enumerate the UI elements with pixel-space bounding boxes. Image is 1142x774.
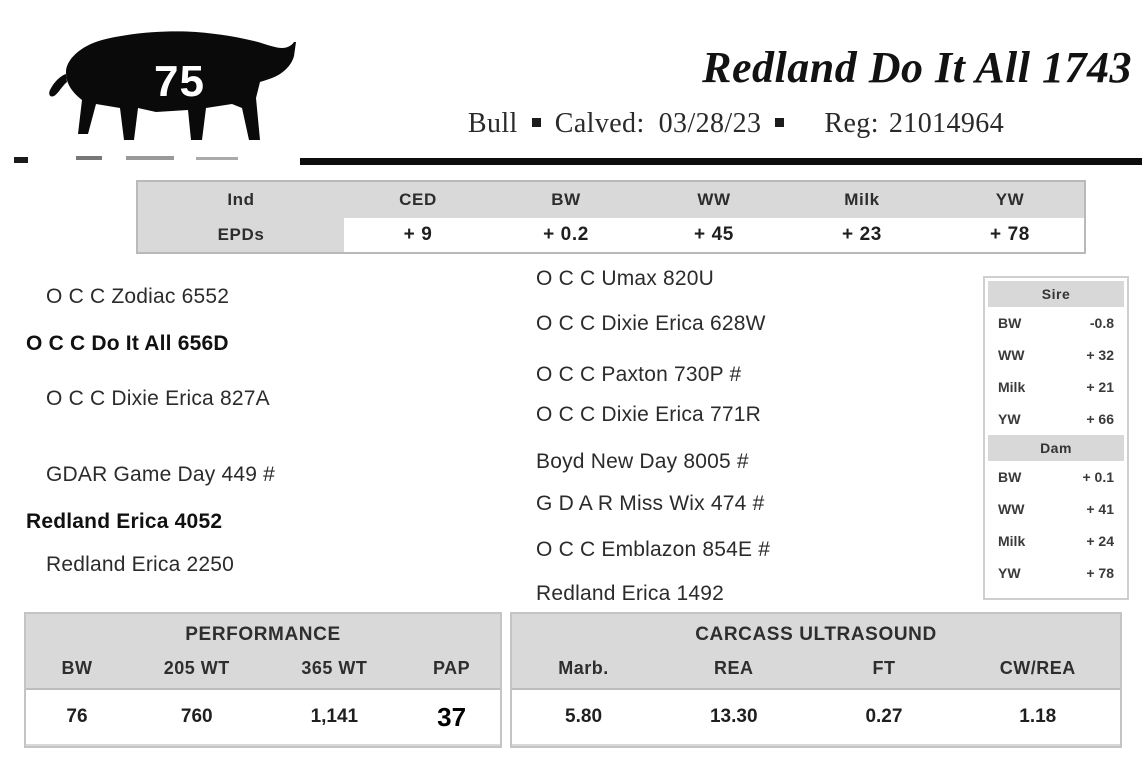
dam-milk-value: + 24	[1050, 533, 1124, 549]
pedigree-sire-grandsire: O C C Zodiac 6552	[46, 285, 229, 309]
dam-ww-key: WW	[988, 501, 1050, 517]
sire-bw-value: -0.8	[1050, 315, 1124, 331]
epd-col-milk: Milk	[788, 182, 936, 218]
dam-ww-value: + 41	[1050, 501, 1124, 517]
carcass-col-cwrea: CW/REA	[955, 648, 1120, 688]
performance-col-bw: BW	[26, 648, 128, 688]
carcass-value-row: 5.80 13.30 0.27 1.18	[512, 688, 1120, 744]
performance-value-row: 76 760 1,141 37	[26, 688, 500, 744]
separator-dot-icon-2	[775, 118, 784, 127]
dam-row-bw: BW + 0.1	[988, 461, 1124, 493]
lot-photo: 75	[36, 12, 298, 164]
carcass-header-row: Marb. REA FT CW/REA	[512, 648, 1120, 688]
sire-milk-value: + 21	[1050, 379, 1124, 395]
performance-value-bw: 76	[26, 690, 128, 744]
dam-yw-value: + 78	[1050, 565, 1124, 581]
reg-label: Reg:	[824, 108, 878, 140]
performance-col-pap: PAP	[403, 648, 500, 688]
dam-row-milk: Milk + 24	[988, 525, 1124, 557]
performance-value-pap: 37	[403, 690, 500, 744]
epd-col-bw: BW	[492, 182, 640, 218]
page-title: Redland Do It All 1743	[540, 42, 1132, 93]
reg-number: 21014964	[889, 108, 1004, 140]
sire-dam-epd-box: Sire BW -0.8 WW + 32 Milk + 21 YW + 66 D…	[983, 276, 1129, 600]
epd-value-row: EPDs + 9 + 0.2 + 45 + 23 + 78	[138, 218, 1084, 252]
sire-ww-value: + 32	[1050, 347, 1124, 363]
carcass-value-ft: 0.27	[812, 690, 955, 744]
pedigree-dam-grandsire: GDAR Game Day 449 #	[46, 463, 275, 487]
calved-label: Calved:	[555, 108, 645, 140]
epd-col-ind: Ind	[138, 182, 344, 218]
header-divider	[300, 158, 1142, 165]
sire-yw-value: + 66	[1050, 411, 1124, 427]
pedigree-great-4: O C C Dixie Erica 771R	[536, 403, 761, 427]
calved-date: 03/28/23	[659, 108, 762, 140]
pedigree-great-7: O C C Emblazon 854E #	[536, 538, 770, 562]
epd-value-milk: + 23	[788, 218, 936, 252]
pedigree-dam-granddam: Redland Erica 2250	[46, 553, 234, 577]
animal-subtitle: Bull Calved: 03/28/23 Reg: 21014964	[340, 108, 1132, 140]
dam-bw-value: + 0.1	[1050, 469, 1124, 485]
sire-row-ww: WW + 32	[988, 339, 1124, 371]
sire-milk-key: Milk	[988, 379, 1050, 395]
pedigree-sire-granddam: O C C Dixie Erica 827A	[46, 387, 270, 411]
performance-value-205wt: 760	[128, 690, 266, 744]
carcass-value-marb: 5.80	[512, 690, 655, 744]
sire-section-title: Sire	[988, 281, 1124, 307]
performance-header-row: BW 205 WT 365 WT PAP	[26, 648, 500, 688]
header-divider-stub	[14, 157, 28, 163]
sire-row-yw: YW + 66	[988, 403, 1124, 435]
sire-row-milk: Milk + 21	[988, 371, 1124, 403]
catalog-page: 75 Redland Do It All 1743 Bull Calved: 0…	[0, 0, 1142, 774]
performance-title: PERFORMANCE	[26, 614, 500, 648]
pedigree-great-3: O C C Paxton 730P #	[536, 363, 741, 387]
carcass-col-ft: FT	[812, 648, 955, 688]
epd-value-ced: + 9	[344, 218, 492, 252]
epd-col-ced: CED	[344, 182, 492, 218]
carcass-title: CARCASS ULTRASOUND	[512, 614, 1120, 648]
dam-milk-key: Milk	[988, 533, 1050, 549]
sire-yw-key: YW	[988, 411, 1050, 427]
performance-value-365wt: 1,141	[266, 690, 404, 744]
epd-row-label: EPDs	[138, 218, 344, 252]
carcass-ultrasound-table: CARCASS ULTRASOUND Marb. REA FT CW/REA 5…	[510, 612, 1122, 748]
pedigree-great-1: O C C Umax 820U	[536, 267, 714, 291]
pedigree-dam: Redland Erica 4052	[26, 510, 222, 534]
sire-row-bw: BW -0.8	[988, 307, 1124, 339]
dam-row-yw: YW + 78	[988, 557, 1124, 589]
carcass-col-marb: Marb.	[512, 648, 655, 688]
pedigree-great-6: G D A R Miss Wix 474 #	[536, 492, 764, 516]
performance-col-365wt: 365 WT	[266, 648, 404, 688]
pedigree-sire: O C C Do It All 656D	[26, 332, 229, 356]
pedigree-great-8: Redland Erica 1492	[536, 582, 724, 606]
epd-value-ww: + 45	[640, 218, 788, 252]
carcass-col-rea: REA	[655, 648, 812, 688]
performance-col-205wt: 205 WT	[128, 648, 266, 688]
carcass-value-cwrea: 1.18	[955, 690, 1120, 744]
pedigree-great-5: Boyd New Day 8005 #	[536, 450, 749, 474]
lot-number: 75	[154, 60, 205, 104]
performance-table: PERFORMANCE BW 205 WT 365 WT PAP 76 760 …	[24, 612, 502, 748]
dam-section-title: Dam	[988, 435, 1124, 461]
separator-dot-icon	[532, 118, 541, 127]
dam-row-ww: WW + 41	[988, 493, 1124, 525]
dam-yw-key: YW	[988, 565, 1050, 581]
sex-label: Bull	[468, 108, 518, 140]
sire-bw-key: BW	[988, 315, 1050, 331]
carcass-value-rea: 13.30	[655, 690, 812, 744]
epd-table: Ind CED BW WW Milk YW EPDs + 9 + 0.2 + 4…	[136, 180, 1086, 254]
sire-ww-key: WW	[988, 347, 1050, 363]
epd-header-row: Ind CED BW WW Milk YW	[138, 182, 1084, 218]
epd-value-bw: + 0.2	[492, 218, 640, 252]
dam-bw-key: BW	[988, 469, 1050, 485]
pedigree-great-2: O C C Dixie Erica 628W	[536, 312, 766, 336]
epd-col-ww: WW	[640, 182, 788, 218]
epd-col-yw: YW	[936, 182, 1084, 218]
epd-value-yw: + 78	[936, 218, 1084, 252]
